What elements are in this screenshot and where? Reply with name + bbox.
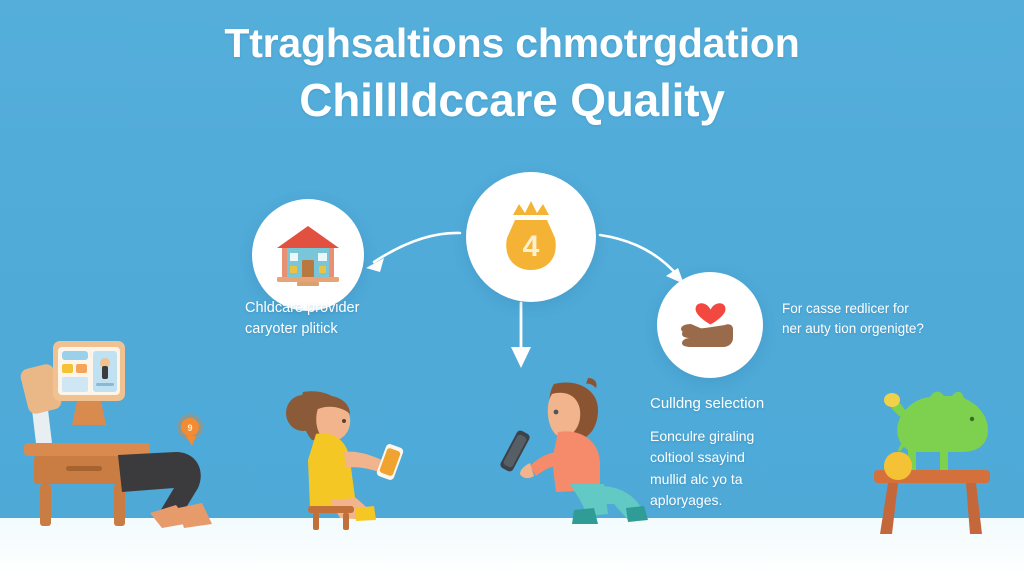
desk-with-monitor: 9 <box>19 341 212 528</box>
boy-with-tablet <box>499 378 648 524</box>
infographic-canvas: Ttraghsaltions chmotrgdation Chillldccar… <box>0 0 1024 576</box>
scene-layer: 9 <box>0 0 1024 576</box>
girl-with-tablet <box>286 391 404 530</box>
notification-badge-value: 9 <box>187 423 192 433</box>
toy-cat-on-bench <box>874 392 990 534</box>
notification-badge: 9 <box>177 414 203 446</box>
